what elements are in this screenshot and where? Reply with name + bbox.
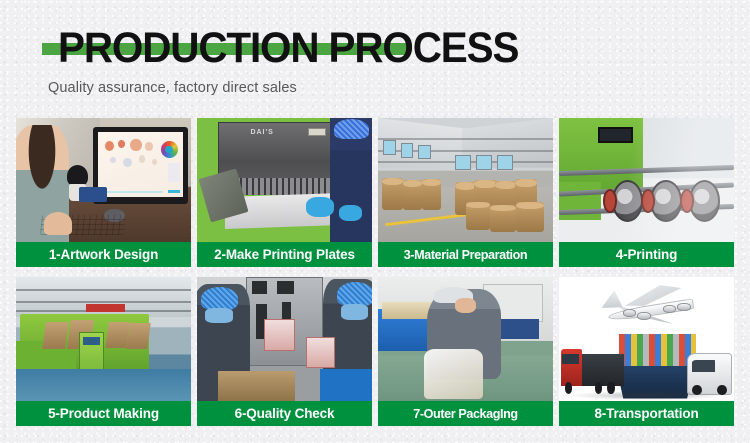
step-caption: 2-Make Printing Plates: [197, 242, 372, 267]
process-step-card[interactable]: 6-Quality Check: [197, 277, 372, 426]
page-subtitle: Quality assurance, factory direct sales: [48, 80, 297, 96]
shipping-containers: [619, 334, 696, 366]
page-title: PRODUCTION PROCESS: [42, 24, 548, 72]
process-step-card[interactable]: 8-Transportation: [559, 277, 734, 426]
step-caption: 7-Outer PackagIng: [378, 401, 553, 426]
step-photo-make-printing-plates: DAI'S: [197, 118, 372, 242]
step-photo-artwork-design: [16, 118, 191, 242]
process-step-card[interactable]: 7-Outer PackagIng: [378, 277, 553, 426]
step-caption: 8-Transportation: [559, 401, 734, 426]
truck-icon: [561, 341, 624, 393]
step-photo-outer-packaging: [378, 277, 553, 401]
step-caption: 4-Printing: [559, 242, 734, 267]
process-step-card[interactable]: DAI'S 2-Make Printing Plates: [197, 118, 372, 267]
step-photo-printing: [559, 118, 734, 242]
airplane-icon: [598, 282, 703, 334]
step-caption: 3-Material Preparation: [378, 242, 553, 267]
van-icon: [687, 353, 733, 395]
process-step-card[interactable]: 5-Product Making: [16, 277, 191, 426]
step-photo-product-making: [16, 277, 191, 401]
step-photo-transportation: [559, 277, 734, 401]
step-caption: 5-Product Making: [16, 401, 191, 426]
step-caption: 6-Quality Check: [197, 401, 372, 426]
process-step-card[interactable]: 1-Artwork Design: [16, 118, 191, 267]
process-steps-grid: 1-Artwork Design DAI'S: [16, 118, 734, 426]
production-process-banner: PRODUCTION PROCESS Quality assurance, fa…: [0, 0, 750, 443]
step-caption: 1-Artwork Design: [16, 242, 191, 267]
banner-header: PRODUCTION PROCESS Quality assurance, fa…: [0, 0, 750, 112]
step-photo-material-preparation: [378, 118, 553, 242]
step-photo-quality-check: [197, 277, 372, 401]
page-title-text: PRODUCTION PROCESS: [58, 24, 518, 72]
process-step-card[interactable]: 3-Material Preparation: [378, 118, 553, 267]
process-step-card[interactable]: 4-Printing: [559, 118, 734, 267]
